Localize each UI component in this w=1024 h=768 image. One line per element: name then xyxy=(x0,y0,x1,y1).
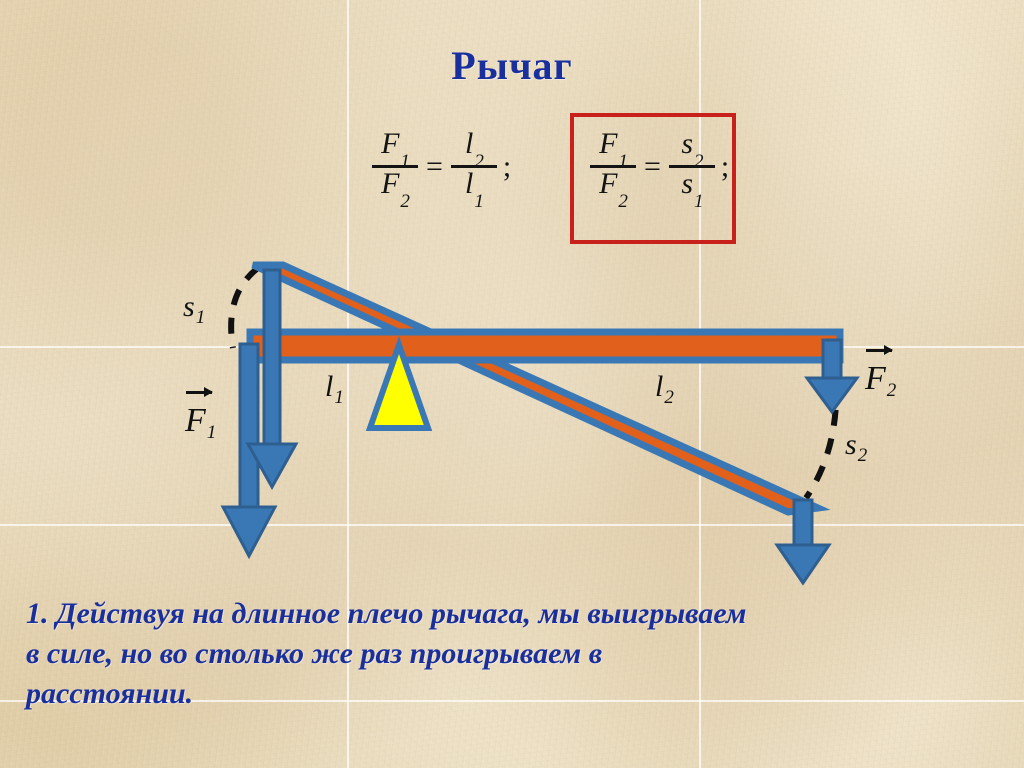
statement-line-2: в силе, но во столько же раз проигрываем… xyxy=(26,634,1006,674)
statement-line-3: расстоянии. xyxy=(26,674,1006,714)
vector-arrow-f1-icon: F xyxy=(185,404,206,438)
label-s1: s1 xyxy=(183,292,204,322)
label-f1: F1 xyxy=(185,404,215,438)
slide-canvas: Рычаг F1 F2 = l2 l1 ; F1 F2 = s2 s1 ; xyxy=(0,0,1024,768)
conclusion-statement: 1. Действуя на длинное плечо рычага, мы … xyxy=(26,594,1006,714)
label-s2: s2 xyxy=(845,430,866,460)
label-f2: F2 xyxy=(865,362,895,396)
label-l2: l2 xyxy=(655,372,673,402)
horizontal-lever-bar xyxy=(250,332,840,360)
statement-line-1: 1. Действуя на длинное плечо рычага, мы … xyxy=(26,594,1006,634)
vector-arrow-f2-icon: F xyxy=(865,362,886,396)
label-l1: l1 xyxy=(325,372,343,402)
